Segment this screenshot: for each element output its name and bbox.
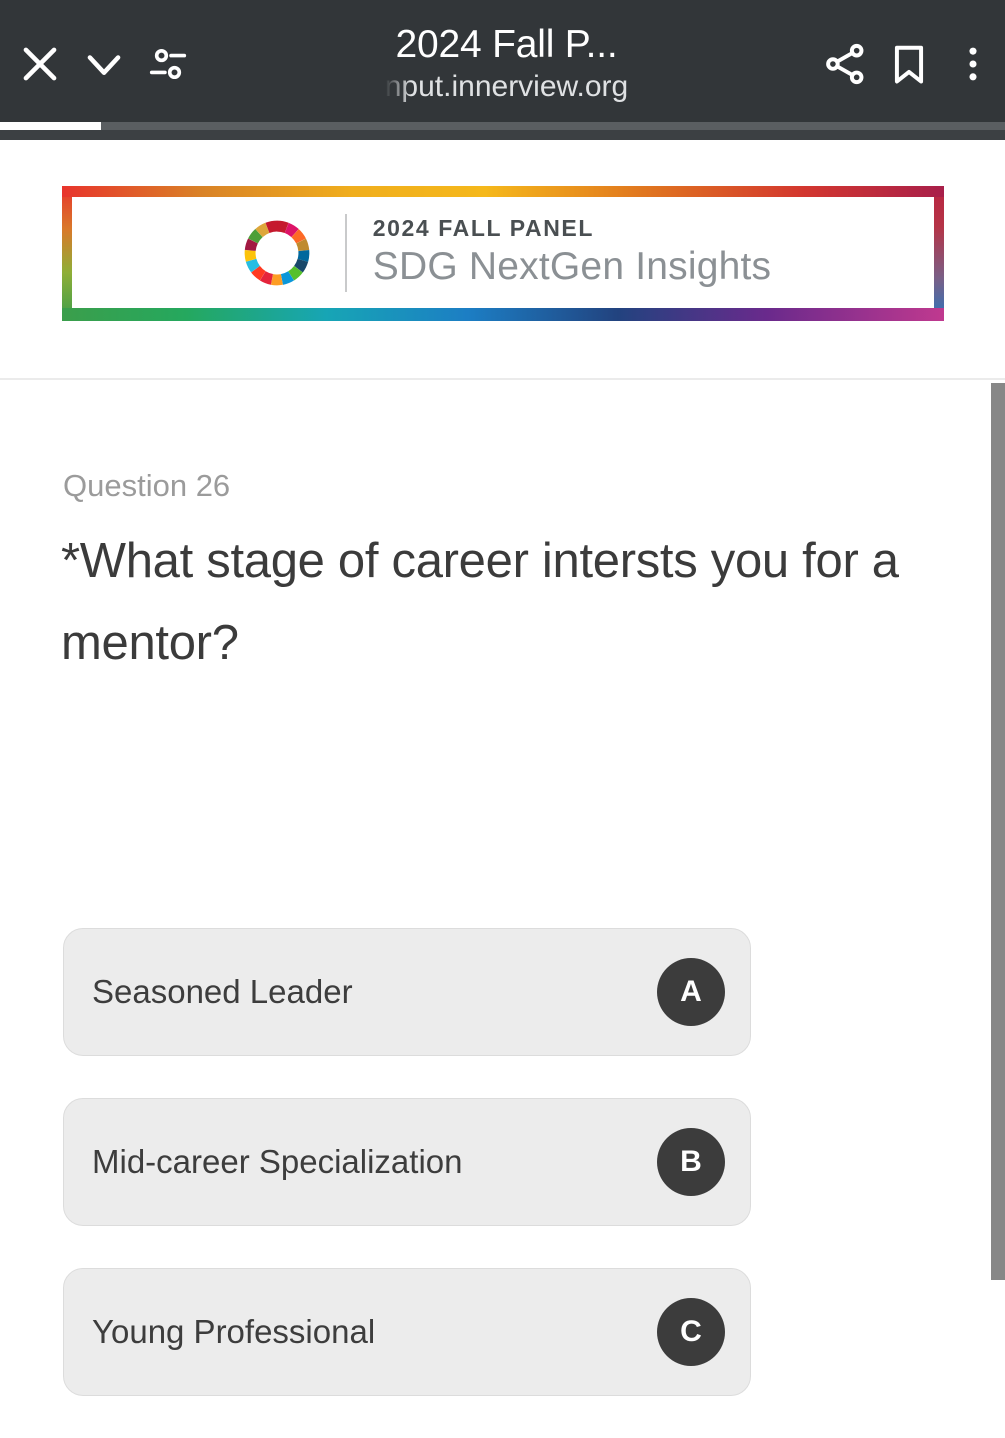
answer-option-badge: A bbox=[657, 958, 725, 1026]
answer-option-label: Seasoned Leader bbox=[92, 973, 353, 1011]
answer-option-c[interactable]: Young Professional C bbox=[63, 1268, 751, 1396]
answer-options-list: Seasoned Leader A Mid-career Specializat… bbox=[63, 928, 753, 1438]
collapse-button[interactable] bbox=[72, 0, 136, 128]
sdg-color-wheel-icon bbox=[235, 211, 319, 295]
share-icon bbox=[820, 39, 870, 89]
banner-divider bbox=[345, 214, 347, 292]
page-title: 2024 Fall P... bbox=[396, 22, 618, 68]
more-options-button[interactable] bbox=[941, 0, 1005, 128]
banner-title: SDG NextGen Insights bbox=[373, 244, 772, 290]
answer-option-label: Mid-career Specialization bbox=[92, 1143, 463, 1181]
page-load-progress-track bbox=[0, 122, 1005, 130]
answer-option-badge: B bbox=[657, 1128, 725, 1196]
question-body: Question 26 *What stage of career inters… bbox=[0, 380, 1005, 1280]
page-load-progress-fill bbox=[0, 122, 101, 130]
page-scrollbar[interactable] bbox=[991, 383, 1005, 1280]
banner-region: 2024 FALL PANEL SDG NextGen Insights bbox=[0, 140, 1005, 378]
banner-kicker: 2024 FALL PANEL bbox=[373, 215, 772, 241]
bookmark-icon bbox=[884, 39, 934, 89]
page-scrollbar-thumb[interactable] bbox=[991, 383, 1005, 1280]
survey-page: 2024 FALL PANEL SDG NextGen Insights Que… bbox=[0, 140, 1005, 1280]
share-button[interactable] bbox=[813, 0, 877, 128]
page-info-button[interactable] bbox=[136, 0, 200, 128]
tune-sliders-icon bbox=[145, 41, 191, 87]
chevron-down-icon bbox=[78, 38, 130, 90]
question-number: Question 26 bbox=[63, 468, 230, 504]
close-button[interactable] bbox=[8, 0, 72, 128]
toolbar-bottom-strip bbox=[0, 130, 1005, 140]
overflow-menu-icon bbox=[950, 41, 996, 87]
answer-option-b[interactable]: Mid-career Specialization B bbox=[63, 1098, 751, 1226]
answer-option-label: Young Professional bbox=[92, 1313, 375, 1351]
tab-title-area[interactable]: 2024 Fall P... nput.innerview.org bbox=[200, 0, 813, 128]
question-text: *What stage of career intersts you for a… bbox=[61, 520, 951, 684]
answer-option-a[interactable]: Seasoned Leader A bbox=[63, 928, 751, 1056]
bookmark-button[interactable] bbox=[877, 0, 941, 128]
banner-text-block: 2024 FALL PANEL SDG NextGen Insights bbox=[373, 215, 772, 290]
browser-toolbar: 2024 Fall P... nput.innerview.org bbox=[0, 0, 1005, 128]
survey-banner: 2024 FALL PANEL SDG NextGen Insights bbox=[62, 186, 944, 321]
page-url: nput.innerview.org bbox=[385, 68, 629, 106]
close-icon bbox=[14, 38, 66, 90]
answer-option-badge: C bbox=[657, 1298, 725, 1366]
banner-inner: 2024 FALL PANEL SDG NextGen Insights bbox=[72, 197, 934, 308]
